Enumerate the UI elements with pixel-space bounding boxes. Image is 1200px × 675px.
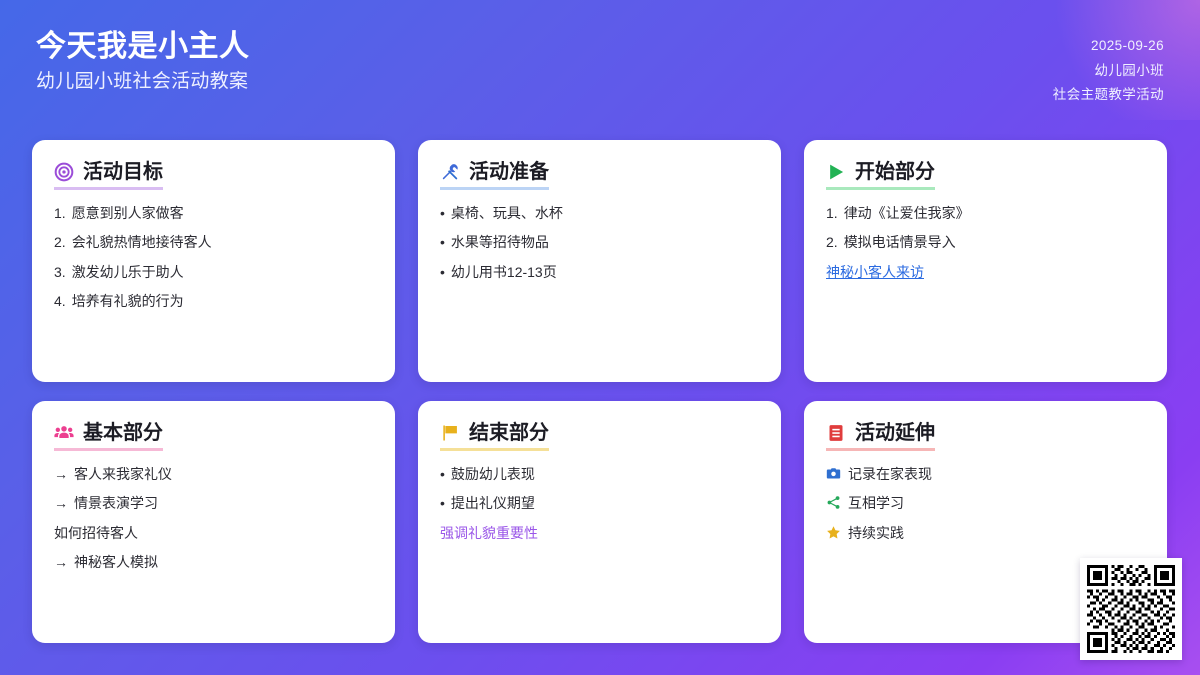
list-item-label: 会礼貌热情地接待客人 bbox=[72, 232, 212, 252]
book-icon bbox=[826, 423, 846, 443]
list-item-marker: 1. bbox=[54, 203, 66, 223]
list-item-label: 客人来我家礼仪 bbox=[74, 464, 172, 484]
list-item: 2.模拟电话情景导入 bbox=[826, 232, 1145, 252]
list-item-marker: • bbox=[440, 203, 445, 223]
list-item: •桌椅、玩具、水杯 bbox=[440, 203, 759, 223]
page-subtitle: 幼儿园小班社会活动教案 bbox=[36, 71, 250, 94]
list-item-label: 提出礼仪期望 bbox=[451, 493, 535, 513]
camera-icon bbox=[826, 466, 842, 482]
list-item-label: 水果等招待物品 bbox=[451, 232, 549, 252]
card-title: 开始部分 bbox=[855, 161, 935, 183]
list-item-marker: • bbox=[440, 493, 445, 513]
people-group-icon bbox=[54, 423, 74, 443]
card-title: 基本部分 bbox=[83, 422, 163, 444]
card-title: 活动延伸 bbox=[855, 422, 935, 444]
list-item: 1.愿意到别人家做客 bbox=[54, 203, 373, 223]
card-header: 活动准备 bbox=[440, 161, 549, 190]
card-5: 结束部分•鼓励幼儿表现•提出礼仪期望强调礼貌重要性 bbox=[418, 401, 781, 643]
list-item: →神秘客人模拟 bbox=[54, 552, 373, 572]
list-item-label: 培养有礼貌的行为 bbox=[72, 291, 184, 311]
list-item: 2.会礼貌热情地接待客人 bbox=[54, 232, 373, 252]
play-triangle-icon bbox=[826, 162, 846, 182]
list-item: →情景表演学习 bbox=[54, 493, 373, 513]
list-item-label: 记录在家表现 bbox=[848, 464, 932, 484]
target-icon bbox=[54, 162, 74, 182]
list-item-marker: 2. bbox=[54, 232, 66, 252]
list-item-label: 持续实践 bbox=[848, 523, 904, 543]
list-item-label: 情景表演学习 bbox=[74, 493, 158, 513]
card-item-list: 记录在家表现互相学习持续实践 bbox=[826, 464, 1145, 543]
card-title: 活动准备 bbox=[469, 161, 549, 183]
list-item-marker: • bbox=[440, 262, 445, 282]
card-item-list: •鼓励幼儿表现•提出礼仪期望强调礼貌重要性 bbox=[440, 464, 759, 543]
card-item-list: •桌椅、玩具、水杯•水果等招待物品•幼儿用书12-13页 bbox=[440, 203, 759, 282]
card-item-list: →客人来我家礼仪→情景表演学习如何招待客人→神秘客人模拟 bbox=[54, 464, 373, 572]
list-item: 强调礼貌重要性 bbox=[440, 523, 759, 543]
card-item-list: 1.愿意到别人家做客2.会礼貌热情地接待客人3.激发幼儿乐于助人4.培养有礼貌的… bbox=[54, 203, 373, 311]
list-item-label: 如何招待客人 bbox=[54, 523, 138, 543]
list-item-label: 激发幼儿乐于助人 bbox=[72, 262, 184, 282]
list-item: •提出礼仪期望 bbox=[440, 493, 759, 513]
list-item-marker: 2. bbox=[826, 232, 838, 252]
card-4: 基本部分→客人来我家礼仪→情景表演学习如何招待客人→神秘客人模拟 bbox=[32, 401, 395, 643]
list-item-label: 律动《让爱住我家》 bbox=[844, 203, 970, 223]
list-item-label: 模拟电话情景导入 bbox=[844, 232, 956, 252]
list-item: •水果等招待物品 bbox=[440, 232, 759, 252]
list-item-marker: 4. bbox=[54, 291, 66, 311]
list-item: 互相学习 bbox=[826, 493, 1145, 513]
share-icon bbox=[826, 495, 842, 511]
list-item: 如何招待客人 bbox=[54, 523, 373, 543]
list-item-marker: → bbox=[54, 552, 68, 572]
card-header: 开始部分 bbox=[826, 161, 935, 190]
hammer-wrench-icon bbox=[440, 162, 460, 182]
card-title: 结束部分 bbox=[469, 422, 549, 444]
list-item-label: 神秘客人模拟 bbox=[74, 552, 158, 572]
card-header: 活动延伸 bbox=[826, 422, 935, 451]
header-grade: 幼儿园小班 bbox=[1095, 61, 1165, 81]
header-text-block: 今天我是小主人 幼儿园小班社会活动教案 bbox=[36, 30, 250, 93]
list-item-marker: 3. bbox=[54, 262, 66, 282]
list-item-label: 幼儿用书12-13页 bbox=[451, 262, 557, 282]
qr-code bbox=[1087, 565, 1175, 653]
list-item-marker: 1. bbox=[826, 203, 838, 223]
list-item: 1.律动《让爱住我家》 bbox=[826, 203, 1145, 223]
star-icon bbox=[826, 525, 842, 541]
qr-code-container[interactable] bbox=[1080, 558, 1182, 660]
header-date: 2025-09-26 bbox=[1091, 36, 1164, 56]
page-header: 今天我是小主人 幼儿园小班社会活动教案 2025-09-26 幼儿园小班 社会主… bbox=[0, 0, 1200, 130]
list-item-label: 愿意到别人家做客 bbox=[72, 203, 184, 223]
card-3: 开始部分1.律动《让爱住我家》2.模拟电话情景导入神秘小客人来访 bbox=[804, 140, 1167, 382]
list-item-label: 互相学习 bbox=[848, 493, 904, 513]
card-grid: 活动目标1.愿意到别人家做客2.会礼貌热情地接待客人3.激发幼儿乐于助人4.培养… bbox=[32, 140, 1168, 643]
list-item: •幼儿用书12-13页 bbox=[440, 262, 759, 282]
card-2: 活动准备•桌椅、玩具、水杯•水果等招待物品•幼儿用书12-13页 bbox=[418, 140, 781, 382]
list-item: →客人来我家礼仪 bbox=[54, 464, 373, 484]
card-title: 活动目标 bbox=[83, 161, 163, 183]
header-meta-block: 2025-09-26 幼儿园小班 社会主题教学活动 bbox=[1053, 30, 1164, 105]
card-header: 活动目标 bbox=[54, 161, 163, 190]
list-item-label: 神秘小客人来访 bbox=[826, 262, 924, 282]
list-item-marker: → bbox=[54, 464, 68, 484]
list-item: 4.培养有礼貌的行为 bbox=[54, 291, 373, 311]
header-category: 社会主题教学活动 bbox=[1053, 85, 1164, 105]
list-item-label: 桌椅、玩具、水杯 bbox=[451, 203, 563, 223]
card-header: 基本部分 bbox=[54, 422, 163, 451]
list-item: 持续实践 bbox=[826, 523, 1145, 543]
flag-icon bbox=[440, 423, 460, 443]
card-1: 活动目标1.愿意到别人家做客2.会礼貌热情地接待客人3.激发幼儿乐于助人4.培养… bbox=[32, 140, 395, 382]
list-item: •鼓励幼儿表现 bbox=[440, 464, 759, 484]
list-item-marker: • bbox=[440, 464, 445, 484]
card-item-list: 1.律动《让爱住我家》2.模拟电话情景导入神秘小客人来访 bbox=[826, 203, 1145, 282]
list-item[interactable]: 神秘小客人来访 bbox=[826, 262, 1145, 282]
list-item-marker: • bbox=[440, 232, 445, 252]
list-item: 记录在家表现 bbox=[826, 464, 1145, 484]
list-item-label: 鼓励幼儿表现 bbox=[451, 464, 535, 484]
list-item: 3.激发幼儿乐于助人 bbox=[54, 262, 373, 282]
list-item-marker: → bbox=[54, 493, 68, 513]
card-header: 结束部分 bbox=[440, 422, 549, 451]
page-title: 今天我是小主人 bbox=[36, 30, 250, 65]
list-item-label: 强调礼貌重要性 bbox=[440, 523, 538, 543]
